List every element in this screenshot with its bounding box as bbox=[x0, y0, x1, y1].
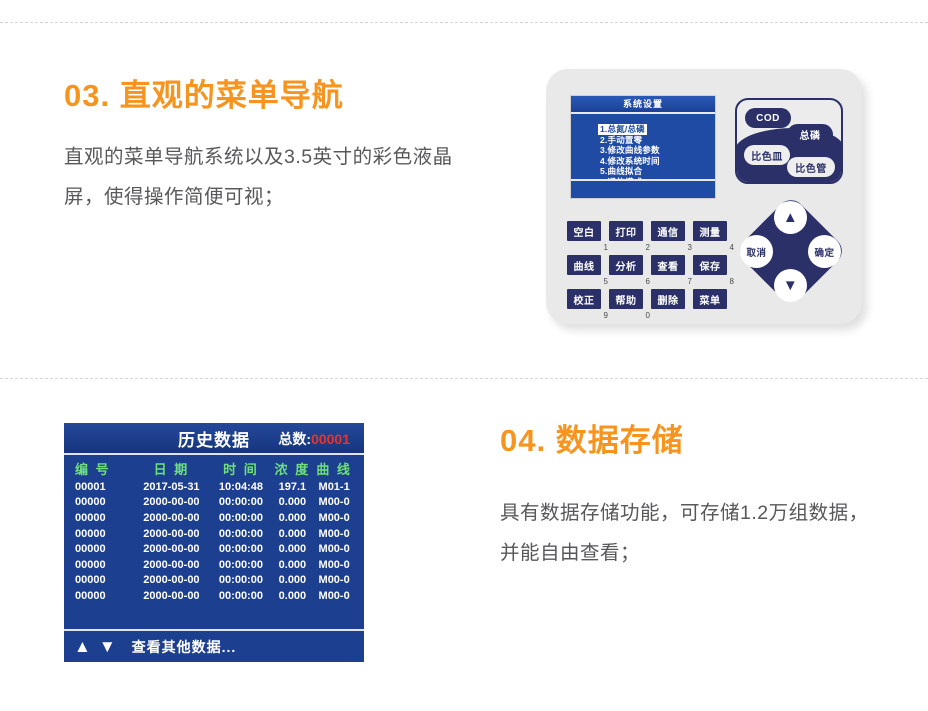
cell-concentration: 0.000 bbox=[272, 559, 314, 571]
keypad-number-1: 1 bbox=[604, 243, 608, 252]
keypad-cell: 打印 2 bbox=[609, 221, 643, 241]
cell-concentration: 0.000 bbox=[272, 574, 314, 586]
keypad-number-2: 2 bbox=[646, 243, 650, 252]
cell-curve: M00-0 bbox=[313, 590, 355, 602]
section-03-body: 直观的菜单导航系统以及3.5英寸的彩色液晶屏，使得操作简便可视； bbox=[64, 137, 454, 217]
cell-id: 00000 bbox=[73, 590, 132, 602]
keypad-cell: 测量 4 bbox=[693, 221, 727, 241]
table-row[interactable]: 00000 2000-00-00 00:00:00 0.000 M00-0 bbox=[73, 573, 355, 589]
keypad-key-view[interactable]: 查看 bbox=[651, 255, 685, 275]
history-table-header: 编 号 日 期 时 间 浓 度 曲 线 bbox=[73, 457, 355, 479]
column-header-concentration: 浓 度 bbox=[272, 459, 314, 478]
keypad-key-save[interactable]: 保存 bbox=[693, 255, 727, 275]
cell-time: 00:00:00 bbox=[210, 496, 271, 508]
cell-id: 00000 bbox=[73, 528, 132, 540]
scroll-up-icon[interactable]: ▲ bbox=[74, 638, 91, 655]
keypad-number-4: 4 bbox=[730, 243, 734, 252]
column-header-id: 编 号 bbox=[73, 459, 132, 478]
keypad-number-6: 6 bbox=[646, 277, 650, 286]
mode-key-cuvette[interactable]: 比色皿 bbox=[744, 145, 790, 165]
cell-curve: M00-0 bbox=[313, 496, 355, 508]
keypad-cell: 校正 9 bbox=[567, 289, 601, 309]
arrow-down-icon: ▼ bbox=[783, 278, 798, 293]
keypad-cell: 查看 7 bbox=[651, 255, 685, 275]
cell-curve: M00-0 bbox=[313, 543, 355, 555]
cell-date: 2000-00-00 bbox=[132, 543, 210, 555]
lcd-menu-item-2[interactable]: 2.手动置零 bbox=[600, 130, 715, 141]
cell-id: 00000 bbox=[73, 543, 132, 555]
cell-time: 00:00:00 bbox=[210, 559, 271, 571]
device-control-panel: 系统设置 1.总氮/总磷 2.手动置零 3.修改曲线参数 4.修改系统时间 5.… bbox=[546, 69, 862, 324]
keypad-key-delete[interactable]: 删除 bbox=[651, 289, 685, 309]
table-row[interactable]: 00000 2000-00-00 00:00:00 0.000 M00-0 bbox=[73, 526, 355, 542]
column-header-time: 时 间 bbox=[210, 459, 271, 478]
arrow-up-icon: ▲ bbox=[783, 210, 798, 225]
keypad-cell: 帮助 0 bbox=[609, 289, 643, 309]
keypad-cell: 删除 bbox=[651, 289, 685, 309]
section-04-body: 具有数据存储功能，可存储1.2万组数据，并能自由查看； bbox=[500, 493, 880, 573]
history-title: 历史数据 bbox=[178, 426, 250, 451]
keypad-cell: 分析 6 bbox=[609, 255, 643, 275]
section-divider bbox=[0, 378, 928, 380]
cell-date: 2000-00-00 bbox=[132, 559, 210, 571]
keypad-cell: 曲线 5 bbox=[567, 255, 601, 275]
column-header-date: 日 期 bbox=[132, 459, 210, 478]
cell-time: 10:04:48 bbox=[210, 481, 271, 493]
table-row[interactable]: 00001 2017-05-31 10:04:48 197.1 M01-1 bbox=[73, 479, 355, 495]
cell-curve: M00-0 bbox=[313, 528, 355, 540]
cell-time: 00:00:00 bbox=[210, 528, 271, 540]
cell-date: 2000-00-00 bbox=[132, 496, 210, 508]
cell-time: 00:00:00 bbox=[210, 590, 271, 602]
cell-curve: M00-0 bbox=[313, 559, 355, 571]
column-header-curve: 曲 线 bbox=[313, 459, 355, 478]
lcd-menu-item-1[interactable]: 1.总氮/总磷 bbox=[600, 119, 715, 130]
section-03-heading: 03. 直观的菜单导航 bbox=[64, 70, 464, 115]
keypad-number-7: 7 bbox=[688, 277, 692, 286]
device-lcd-screen: 系统设置 1.总氮/总磷 2.手动置零 3.修改曲线参数 4.修改系统时间 5.… bbox=[570, 95, 716, 199]
keypad-cell: 菜单 bbox=[693, 289, 727, 309]
lcd-menu-item-3[interactable]: 3.修改曲线参数 bbox=[600, 140, 715, 151]
cell-concentration: 0.000 bbox=[272, 496, 314, 508]
table-row[interactable]: 00000 2000-00-00 00:00:00 0.000 M00-0 bbox=[73, 588, 355, 604]
lcd-screen-title: 系统设置 bbox=[571, 96, 715, 114]
cell-id: 00001 bbox=[73, 481, 132, 493]
keypad-number-0: 0 bbox=[646, 311, 650, 320]
history-footer-bar: ▲ ▼ 查看其他数据... bbox=[64, 629, 364, 662]
keypad-key-analyze[interactable]: 分析 bbox=[609, 255, 643, 275]
cell-concentration: 0.000 bbox=[272, 543, 314, 555]
cell-curve: M00-0 bbox=[313, 574, 355, 586]
keypad-key-communication[interactable]: 通信 bbox=[651, 221, 685, 241]
keypad-cell: 保存 8 bbox=[693, 255, 727, 275]
mode-key-total-phosphorus[interactable]: 总磷 bbox=[787, 124, 833, 145]
keypad-key-calibrate[interactable]: 校正 bbox=[567, 289, 601, 309]
cell-concentration: 0.000 bbox=[272, 590, 314, 602]
lcd-status-bar bbox=[571, 179, 715, 198]
cell-id: 00000 bbox=[73, 512, 132, 524]
keypad-key-print[interactable]: 打印 bbox=[609, 221, 643, 241]
section-04-heading: 04. 数据存储 bbox=[500, 415, 900, 460]
mode-key-cluster: COD 总磷 比色皿 比色管 bbox=[735, 98, 843, 184]
cell-time: 00:00:00 bbox=[210, 543, 271, 555]
history-title-bar: 历史数据 总数:00001 bbox=[64, 423, 364, 453]
lcd-menu-item-4[interactable]: 4.修改系统时间 bbox=[600, 151, 715, 162]
keypad-number-8: 8 bbox=[730, 277, 734, 286]
cell-id: 00000 bbox=[73, 559, 132, 571]
scroll-down-icon[interactable]: ▼ bbox=[99, 638, 116, 655]
mode-key-colorimetric-tube[interactable]: 比色管 bbox=[787, 157, 835, 177]
table-row[interactable]: 00000 2000-00-00 00:00:00 0.000 M00-0 bbox=[73, 510, 355, 526]
dpad-down-button[interactable]: ▼ bbox=[774, 269, 807, 302]
device-keypad: 空白 1 打印 2 通信 3 测量 4 曲线 5 分析 6 查看 7 保存 8 bbox=[567, 221, 727, 311]
table-row[interactable]: 00000 2000-00-00 00:00:00 0.000 M00-0 bbox=[73, 495, 355, 511]
keypad-number-3: 3 bbox=[688, 243, 692, 252]
keypad-number-9: 9 bbox=[604, 311, 608, 320]
table-row[interactable]: 00000 2000-00-00 00:00:00 0.000 M00-0 bbox=[73, 557, 355, 573]
history-data-screen: 历史数据 总数:00001 编 号 日 期 时 间 浓 度 曲 线 00001 … bbox=[64, 423, 364, 662]
cell-date: 2000-00-00 bbox=[132, 512, 210, 524]
top-divider bbox=[0, 22, 928, 24]
keypad-cell: 通信 3 bbox=[651, 221, 685, 241]
history-total-count: 总数:00001 bbox=[278, 429, 350, 449]
cell-date: 2000-00-00 bbox=[132, 528, 210, 540]
keypad-key-measure[interactable]: 测量 bbox=[693, 221, 727, 241]
keypad-cell: 空白 1 bbox=[567, 221, 601, 241]
dpad-cancel-button[interactable]: 取消 bbox=[740, 235, 773, 268]
history-total-value: 00001 bbox=[311, 431, 350, 447]
cell-time: 00:00:00 bbox=[210, 574, 271, 586]
history-footer-hint: 查看其他数据... bbox=[132, 637, 237, 657]
history-total-label: 总数: bbox=[278, 431, 311, 447]
keypad-key-help[interactable]: 帮助 bbox=[609, 289, 643, 309]
section-04-text-block: 04. 数据存储 具有数据存储功能，可存储1.2万组数据，并能自由查看； bbox=[500, 415, 900, 573]
cell-concentration: 0.000 bbox=[272, 512, 314, 524]
cell-curve: M00-0 bbox=[313, 512, 355, 524]
cell-id: 00000 bbox=[73, 574, 132, 586]
mode-key-cod[interactable]: COD bbox=[745, 108, 791, 128]
keypad-key-curve[interactable]: 曲线 bbox=[567, 255, 601, 275]
section-03-text-block: 03. 直观的菜单导航 直观的菜单导航系统以及3.5英寸的彩色液晶屏，使得操作简… bbox=[64, 70, 464, 217]
cell-date: 2000-00-00 bbox=[132, 574, 210, 586]
cell-date: 2000-00-00 bbox=[132, 590, 210, 602]
cell-time: 00:00:00 bbox=[210, 512, 271, 524]
dpad-confirm-button[interactable]: 确定 bbox=[808, 235, 841, 268]
cell-concentration: 197.1 bbox=[272, 481, 314, 493]
table-row[interactable]: 00000 2000-00-00 00:00:00 0.000 M00-0 bbox=[73, 541, 355, 557]
device-dpad: 取消 确定 ▲ ▼ bbox=[737, 197, 845, 305]
cell-concentration: 0.000 bbox=[272, 528, 314, 540]
dpad-up-button[interactable]: ▲ bbox=[774, 201, 807, 234]
cell-date: 2017-05-31 bbox=[132, 481, 210, 493]
keypad-key-blank[interactable]: 空白 bbox=[567, 221, 601, 241]
cell-curve: M01-1 bbox=[313, 481, 355, 493]
keypad-key-menu[interactable]: 菜单 bbox=[693, 289, 727, 309]
keypad-number-5: 5 bbox=[604, 277, 608, 286]
history-data-table: 编 号 日 期 时 间 浓 度 曲 线 00001 2017-05-31 10:… bbox=[64, 453, 364, 604]
cell-id: 00000 bbox=[73, 496, 132, 508]
